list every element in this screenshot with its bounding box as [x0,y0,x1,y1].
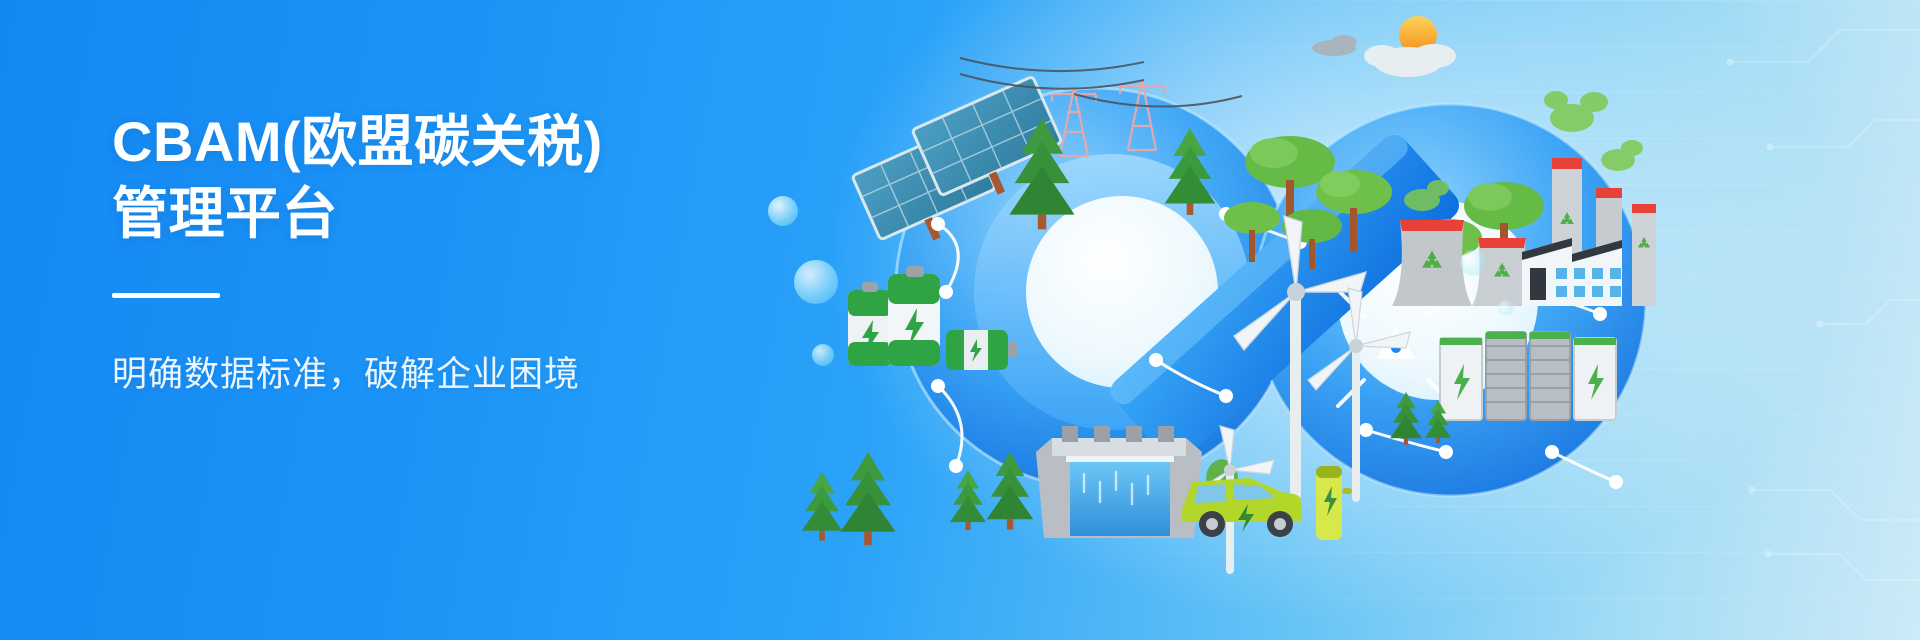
cloud [1364,44,1456,77]
page-subtitle: 明确数据标准，破解企业困境 [112,346,872,397]
factory-building [1522,238,1622,306]
eco-cycle-scene [760,0,1920,640]
bubble-icon [812,344,834,366]
title-divider [112,293,220,298]
pine-trees [802,452,896,545]
hero-illustration [760,0,1920,640]
bubble-icon [768,196,798,226]
cloud [1312,35,1357,56]
electric-car [1182,478,1302,537]
charging-station [1316,466,1352,540]
hydro-dam [1036,426,1202,538]
bubble-icon [1498,300,1514,316]
bubble-icon [1460,250,1486,276]
hero-text-block: CBAM(欧盟碳关税) 管理平台 明确数据标准，破解企业困境 [112,106,872,397]
page-title: CBAM(欧盟碳关税) 管理平台 [112,106,872,249]
cbam-hero-banner: CBAM(欧盟碳关税) 管理平台 明确数据标准，破解企业困境 [0,0,1920,640]
bubble-icon [794,260,838,304]
